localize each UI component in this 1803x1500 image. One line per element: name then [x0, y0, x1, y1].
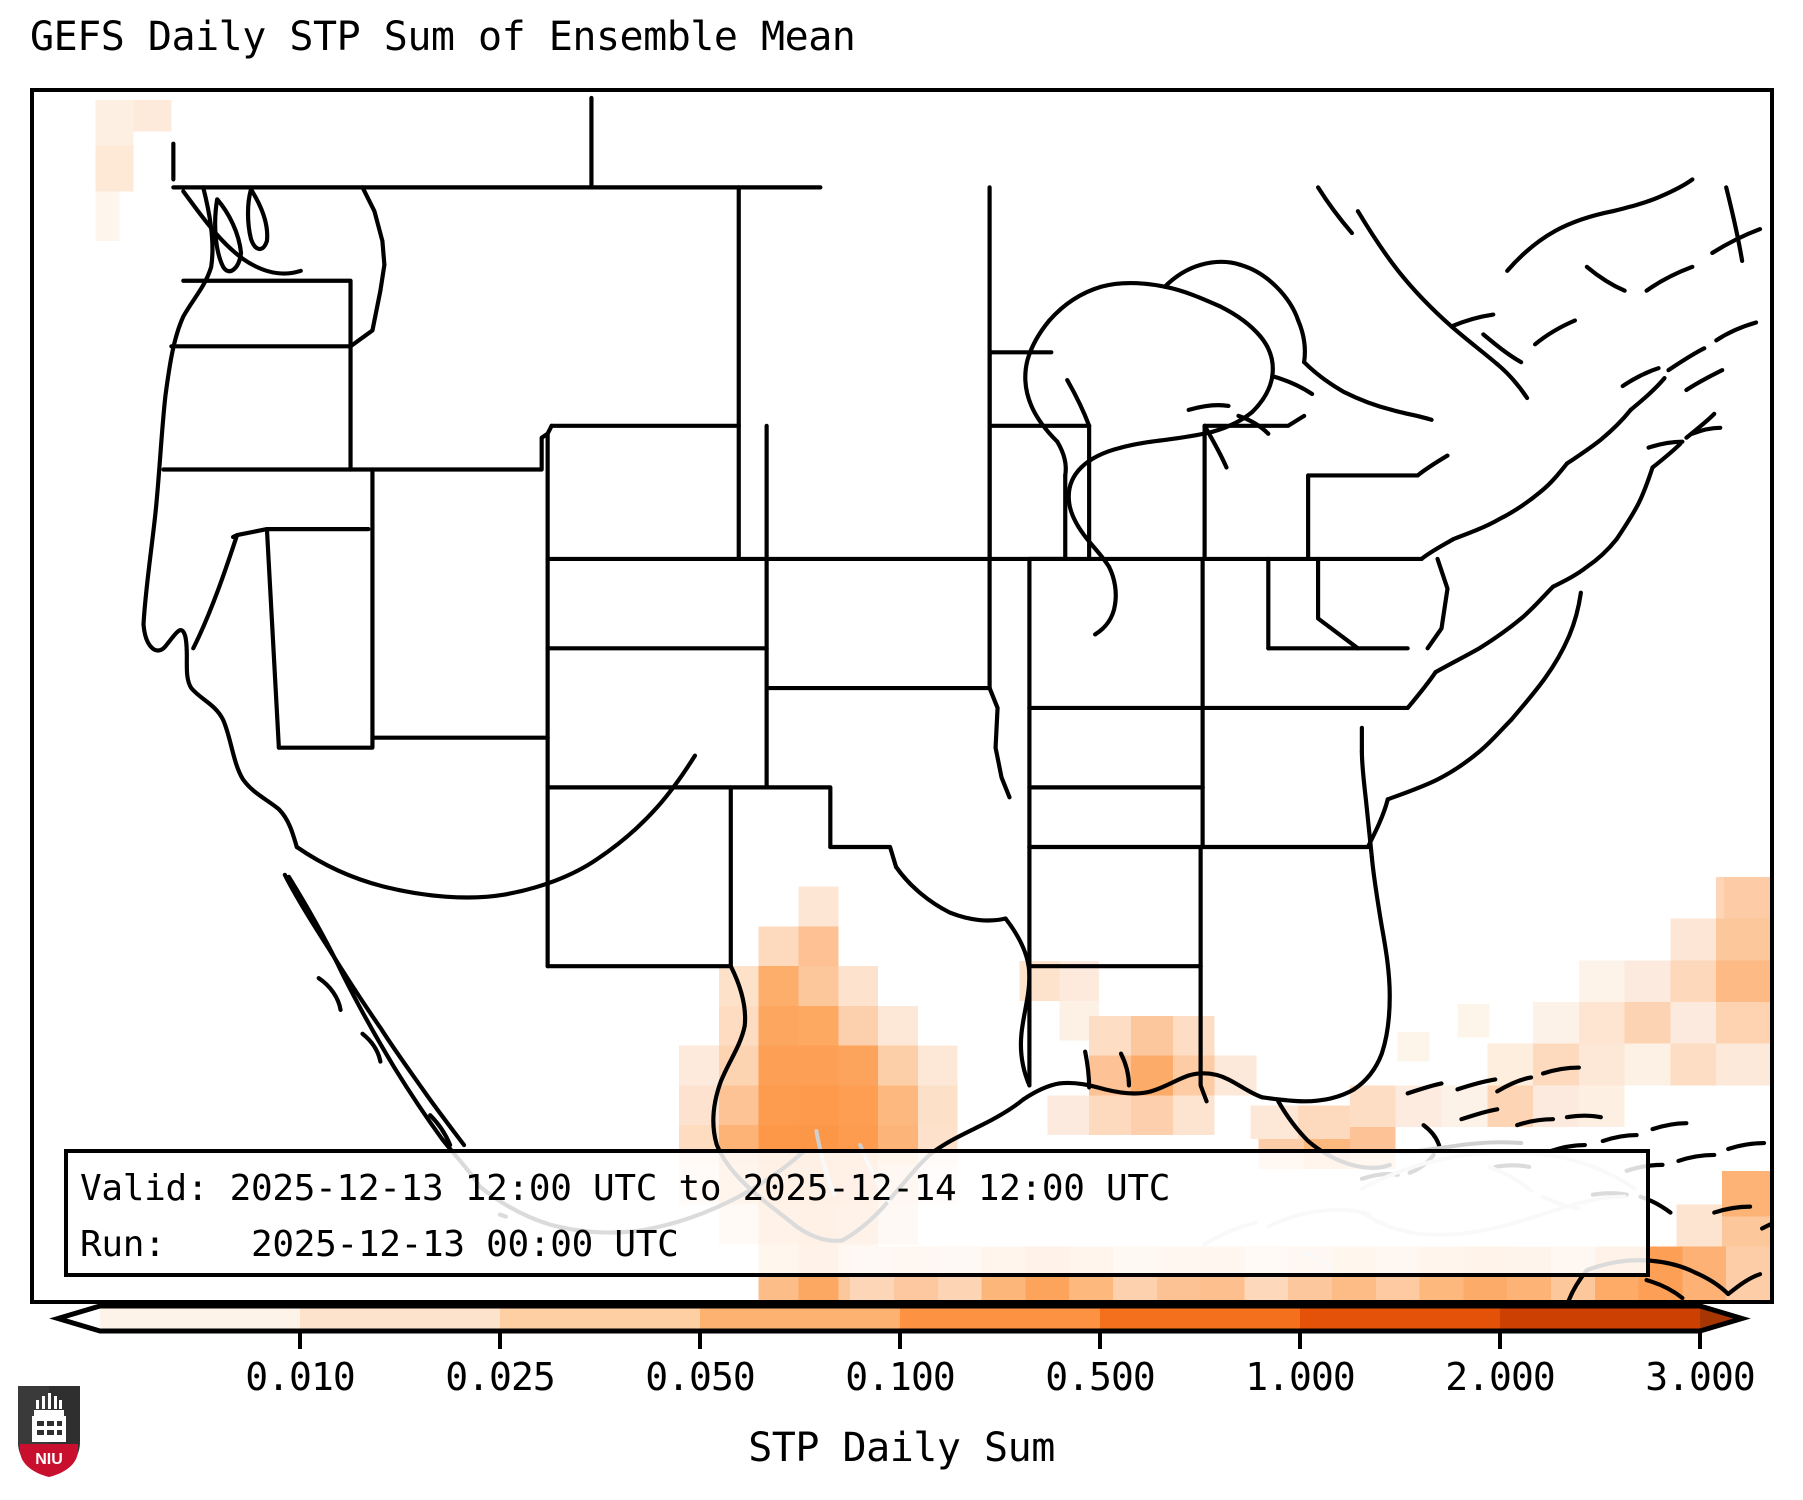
colorbar-segment: [1300, 1306, 1501, 1331]
colorbar-axis-label: STP Daily Sum: [0, 1424, 1803, 1472]
colorbar-tick-label: 0.500: [1045, 1355, 1154, 1399]
colorbar-ticks: [300, 1331, 1700, 1349]
colorbar-tick-label: 0.010: [245, 1355, 354, 1399]
colorbar-tick-label: 0.050: [645, 1355, 754, 1399]
niu-logo: NIU: [14, 1380, 84, 1478]
colorbar-segment: [900, 1306, 1101, 1331]
colorbar-tick-label: 3.000: [1645, 1355, 1754, 1399]
colorbar-tick-label: 2.000: [1445, 1355, 1554, 1399]
map-svg: [34, 92, 1770, 1300]
run-time-line: Run: 2025-12-13 00:00 UTC: [80, 1217, 1646, 1273]
colorbar-tick-labels: 0.0100.0250.0500.1000.5001.0002.0003.000: [0, 1355, 1803, 1409]
valid-time-line: Valid: 2025-12-13 12:00 UTC to 2025-12-1…: [80, 1161, 1646, 1217]
colorbar-segments: [58, 1306, 1742, 1331]
map-canvas: [34, 92, 1770, 1300]
colorbar-segment: [500, 1306, 701, 1331]
colorbar-segment: [1100, 1306, 1301, 1331]
colorbar-segment: [100, 1306, 301, 1331]
page-title: GEFS Daily STP Sum of Ensemble Mean: [30, 14, 1530, 60]
colorbar-tick-label: 0.100: [845, 1355, 954, 1399]
colorbar-segment: [1500, 1306, 1701, 1331]
colorbar-tick-label: 0.025: [445, 1355, 554, 1399]
colorbar-segment: [300, 1306, 501, 1331]
niu-logo-text: NIU: [35, 1451, 63, 1468]
colorbar-segment: [700, 1306, 901, 1331]
colorbar-tick-label: 1.000: [1245, 1355, 1354, 1399]
forecast-info-box: Valid: 2025-12-13 12:00 UTC to 2025-12-1…: [64, 1149, 1650, 1277]
map-panel: Valid: 2025-12-13 12:00 UTC to 2025-12-1…: [30, 88, 1774, 1304]
